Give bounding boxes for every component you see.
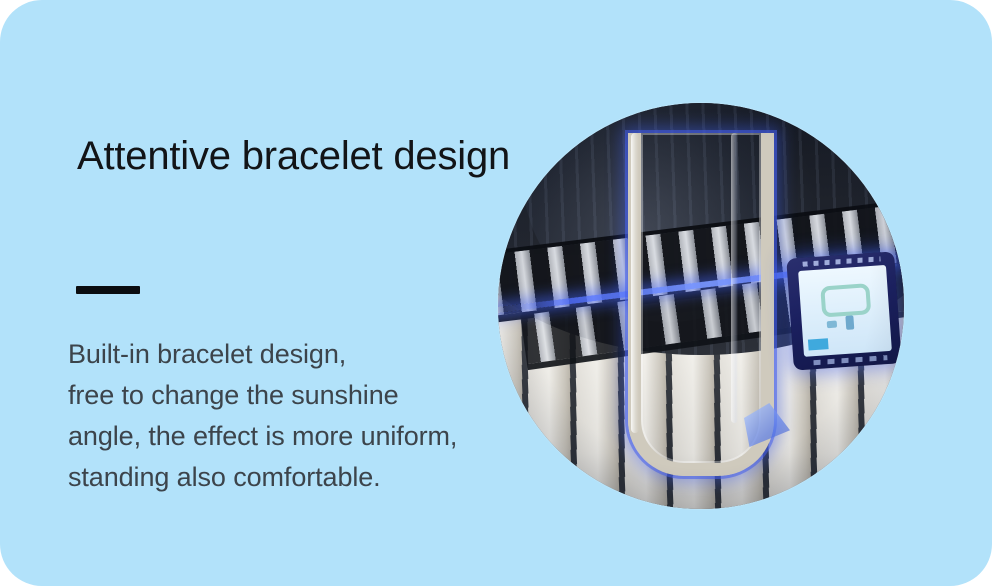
description-line: standing also comfortable. bbox=[68, 457, 508, 498]
promo-banner: Attentive bracelet design Built-in brace… bbox=[0, 0, 992, 586]
description-line: free to change the sunshine bbox=[68, 375, 508, 416]
screen-badge-icon bbox=[808, 338, 828, 350]
handrail-highlight-secondary bbox=[731, 133, 738, 423]
page-title: Attentive bracelet design bbox=[77, 134, 510, 179]
screen-frame-icon bbox=[820, 283, 870, 317]
control-panel bbox=[786, 251, 902, 370]
title-divider bbox=[76, 286, 140, 294]
control-panel-screen bbox=[798, 265, 892, 357]
text-column: Attentive bracelet design Built-in brace… bbox=[0, 0, 520, 586]
screen-glyph-icon bbox=[826, 320, 837, 328]
screen-glyph-icon bbox=[845, 316, 854, 330]
handrail-highlight bbox=[631, 133, 639, 433]
product-photo-circle bbox=[498, 103, 904, 509]
description-line: Built-in bracelet design, bbox=[68, 334, 508, 375]
panel-bottom-markings bbox=[813, 355, 887, 365]
description-text: Built-in bracelet design, free to change… bbox=[68, 334, 508, 498]
description-line: angle, the effect is more uniform, bbox=[68, 416, 508, 457]
